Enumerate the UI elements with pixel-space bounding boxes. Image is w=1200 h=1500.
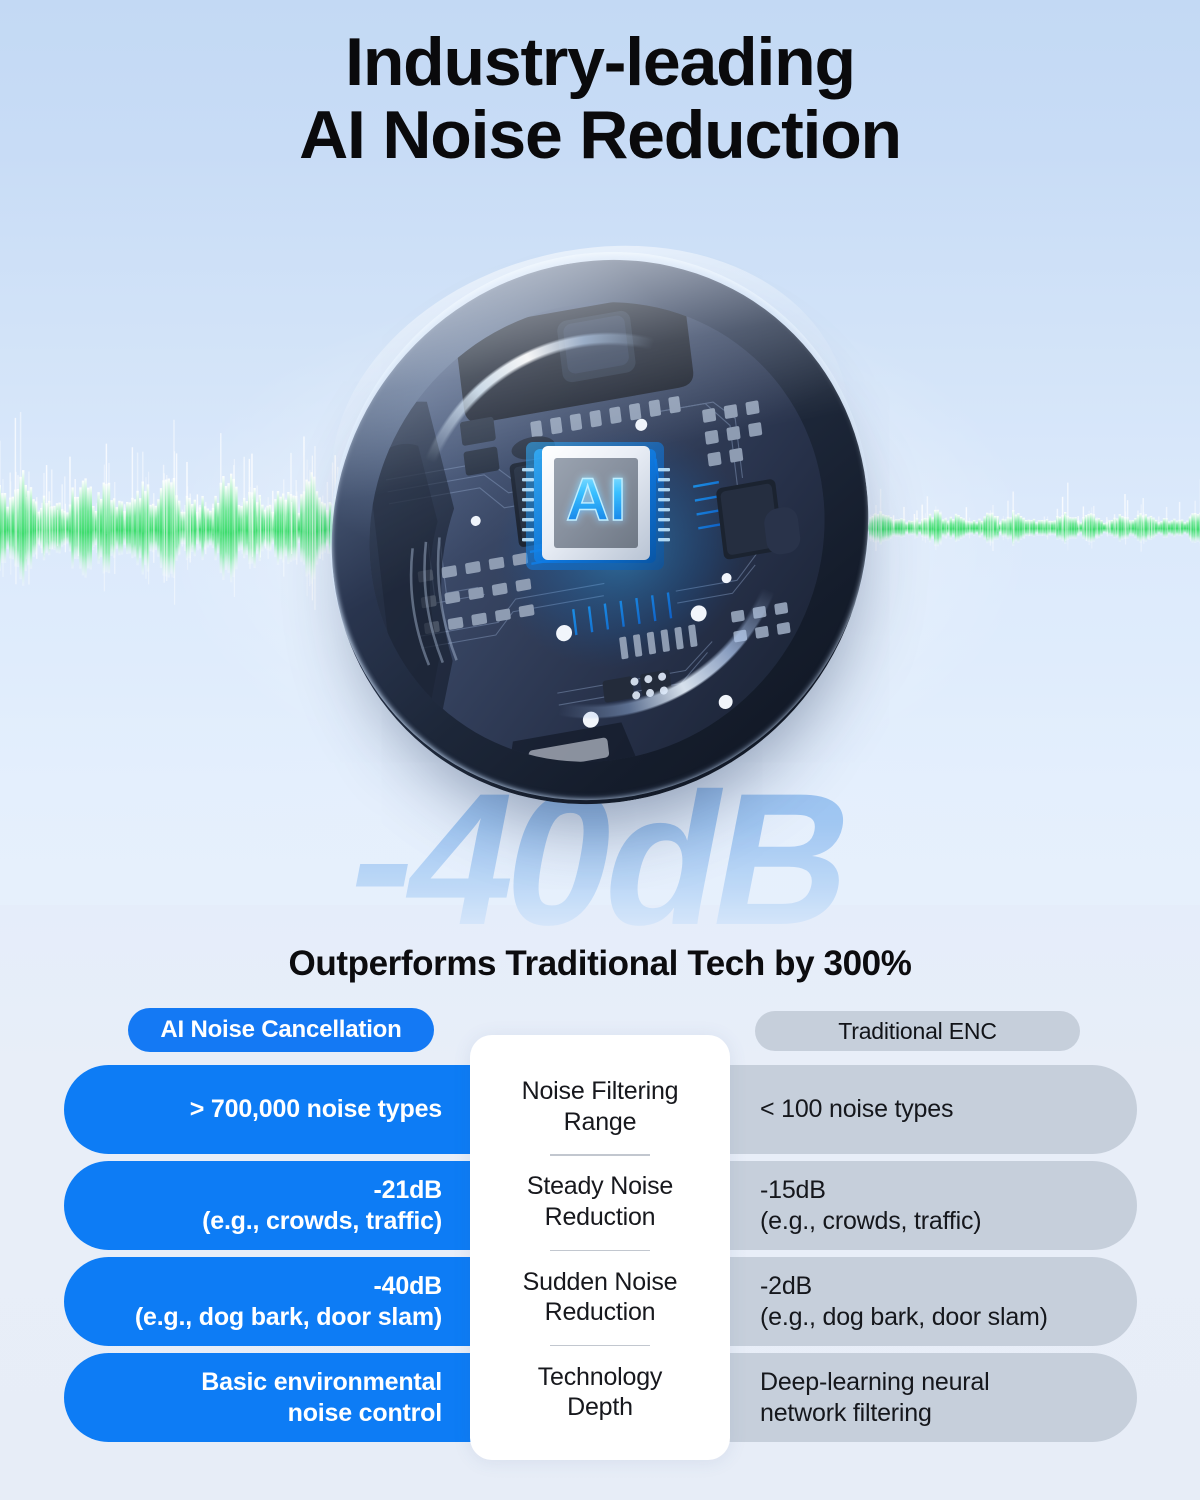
cell-enc-line-1: -2dB	[760, 1272, 812, 1300]
cell-ai-line-2: noise control	[288, 1399, 442, 1427]
page-title: Industry-leading AI Noise Reduction	[0, 26, 1200, 172]
metric-label-line-2: Range	[564, 1108, 637, 1136]
cell-ai-line-2: (e.g., crowds, traffic)	[202, 1207, 442, 1235]
title-line-1: Industry-leading	[0, 26, 1200, 99]
comparison-metric-labels-card: Noise Filtering Range Steady Noise Reduc…	[470, 1035, 730, 1460]
metric-label-line-1: Steady Noise	[527, 1172, 673, 1200]
metric-label-line-1: Sudden Noise	[523, 1268, 678, 1296]
cell-ai-line-2: (e.g., dog bark, door slam)	[135, 1303, 442, 1331]
metric-label-line-1: Noise Filtering	[522, 1077, 679, 1105]
metric-label-sudden-noise-reduction: Sudden Noise Reduction	[484, 1250, 716, 1345]
cell-enc-line-2: (e.g., crowds, traffic)	[760, 1207, 981, 1235]
comparison-heading: Outperforms Traditional Tech by 300%	[0, 944, 1200, 984]
cell-ai-line-1: Basic environmental	[201, 1368, 442, 1396]
product-feature-graphic: -40dB	[0, 0, 1200, 1500]
cell-enc-line-1: -15dB	[760, 1176, 826, 1204]
cell-enc-line-2: network filtering	[760, 1399, 932, 1427]
metric-label-line-2: Reduction	[545, 1298, 656, 1326]
column-header-ai: AI Noise Cancellation	[128, 1008, 434, 1052]
cell-enc-line-1: < 100 noise types	[760, 1095, 953, 1123]
metric-label-technology-depth: Technology Depth	[484, 1345, 716, 1440]
cell-ai-line-1: > 700,000 noise types	[190, 1095, 442, 1123]
metric-label-line-2: Depth	[567, 1393, 633, 1421]
cell-enc-line-1: Deep-learning neural	[760, 1368, 989, 1396]
metric-label-steady-noise-reduction: Steady Noise Reduction	[484, 1154, 716, 1249]
metric-label-line-1: Technology	[538, 1363, 662, 1391]
earbud-case-cutaway-image: AI	[322, 248, 878, 814]
metric-label-line-2: Reduction	[545, 1203, 656, 1231]
cell-ai-line-1: -40dB	[374, 1272, 442, 1300]
cell-ai-line-1: -21dB	[374, 1176, 442, 1204]
metric-label-noise-filtering-range: Noise Filtering Range	[484, 1059, 716, 1154]
column-header-enc: Traditional ENC	[755, 1011, 1080, 1051]
ai-chip: AI	[520, 434, 672, 578]
title-line-2: AI Noise Reduction	[0, 99, 1200, 172]
cell-enc-line-2: (e.g., dog bark, door slam)	[760, 1303, 1048, 1331]
ai-chip-label: AI	[566, 466, 626, 533]
